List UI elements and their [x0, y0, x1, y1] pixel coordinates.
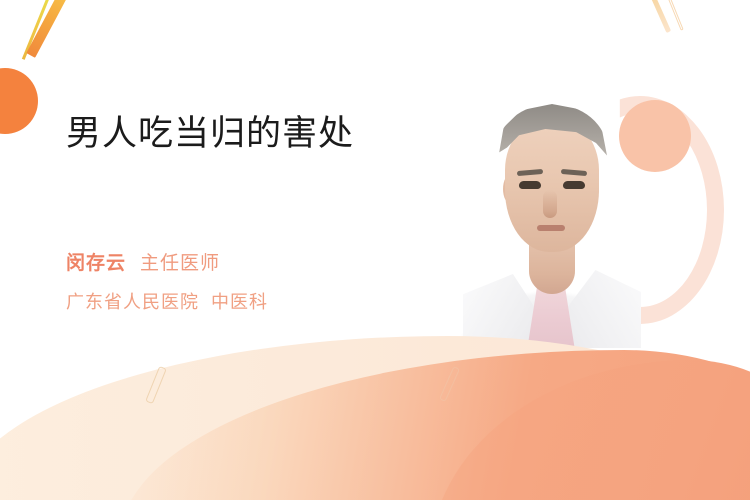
orange-circle-decoration: [0, 68, 38, 134]
doctor-info-card: 男人吃当归的害处 闵存云 主任医师 广东省人民医院 中医科: [0, 0, 750, 500]
page-title: 男人吃当归的害处: [66, 112, 426, 156]
portrait-eye-left: [519, 181, 541, 189]
cream-wave-decoration: [0, 336, 750, 500]
top-right-diagonal-stripe-decoration: [648, 0, 671, 33]
portrait-nose: [543, 190, 557, 218]
hollow-diagonal-stripe-left-decoration: [145, 366, 167, 404]
portrait-mouth: [537, 225, 565, 231]
doctor-title: 主任医师: [140, 248, 220, 275]
title-block: 男人吃当归的害处: [66, 112, 426, 156]
doctor-name: 闵存云: [66, 248, 126, 275]
hospital-name: 广东省人民医院: [66, 288, 199, 314]
thin-yellow-diagonal-stripe-decoration: [22, 0, 53, 60]
doctor-portrait: [455, 78, 641, 348]
salmon-wave-accent-decoration: [430, 360, 750, 500]
portrait-eye-right: [563, 181, 585, 189]
salmon-wave-decoration: [120, 350, 750, 500]
top-right-outline-stripe-decoration: [661, 0, 683, 31]
affiliation: 广东省人民医院 中医科: [66, 288, 268, 314]
portrait-image: [455, 78, 641, 348]
hollow-diagonal-stripe-right-decoration: [439, 366, 460, 402]
gradient-diagonal-stripe-decoration: [26, 0, 71, 58]
byline: 闵存云 主任医师: [66, 248, 220, 275]
department-name: 中医科: [211, 288, 268, 314]
